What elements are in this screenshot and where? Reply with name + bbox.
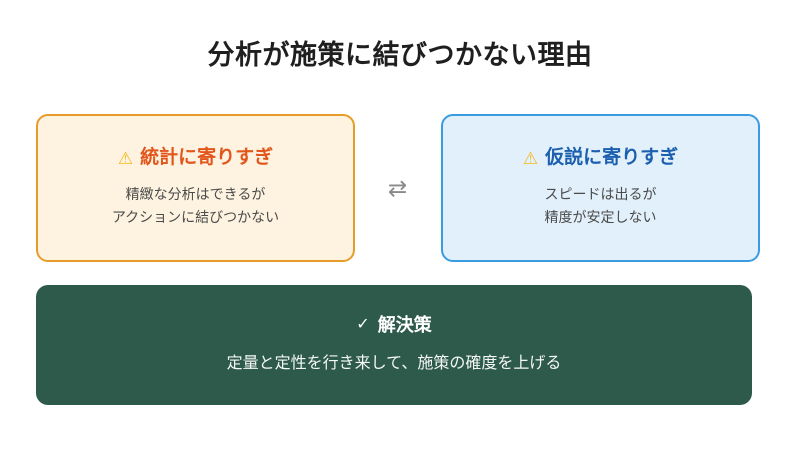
card-heading: ⚠ 仮説に寄りすぎ: [523, 147, 678, 170]
solution-body-text: 定量と定性を行き来して、施策の確度を上げる: [227, 353, 562, 375]
card-hypothesis-bias: ⚠ 仮説に寄りすぎ スピードは出るが 精度が安定しない: [441, 114, 760, 262]
card-body-line: 精度が安定しない: [545, 206, 657, 229]
solution-heading: ✓ 解決策: [356, 315, 431, 337]
solution-banner: ✓ 解決策 定量と定性を行き来して、施策の確度を上げる: [36, 285, 752, 405]
exchange-arrows-icon: ⇄: [355, 114, 440, 262]
card-heading-label: 統計に寄りすぎ: [140, 147, 273, 170]
card-body: 精緻な分析はできるが アクションに結びつかない: [112, 183, 279, 228]
warning-triangle-icon: ⚠: [118, 150, 133, 167]
solution-heading-label: 解決策: [378, 315, 432, 337]
card-statistics-bias: ⚠ 統計に寄りすぎ 精緻な分析はできるが アクションに結びつかない: [36, 114, 355, 262]
check-mark-icon: ✓: [356, 317, 369, 333]
page-title: 分析が施策に結びつかない理由: [0, 39, 800, 71]
warning-triangle-icon: ⚠: [523, 150, 538, 167]
card-body-line: スピードは出るが: [545, 183, 657, 206]
card-body: スピードは出るが 精度が安定しない: [545, 183, 657, 228]
card-body-line: アクションに結びつかない: [112, 206, 279, 229]
card-body-line: 精緻な分析はできるが: [112, 183, 279, 206]
card-heading-label: 仮説に寄りすぎ: [545, 147, 678, 170]
card-heading: ⚠ 統計に寄りすぎ: [118, 147, 273, 170]
slide-canvas: 分析が施策に結びつかない理由 ⚠ 統計に寄りすぎ 精緻な分析はできるが アクショ…: [0, 0, 800, 457]
